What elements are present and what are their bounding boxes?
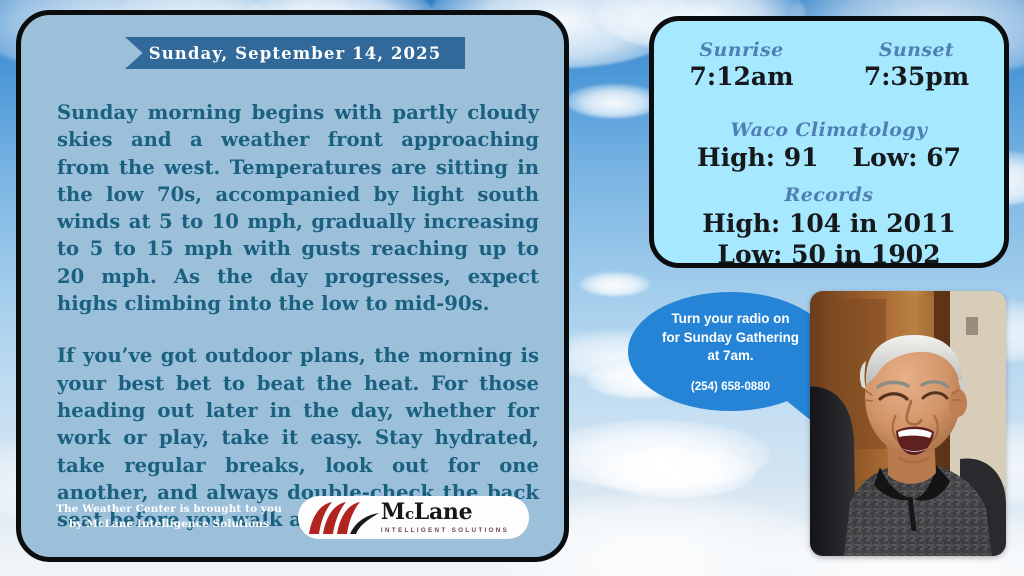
almanac-card: Sunrise 7:12am Sunset 7:35pm Waco Climat… (649, 16, 1009, 268)
sunset-block: Sunset 7:35pm (829, 39, 1004, 91)
forecast-text-block: Sunday morning begins with partly cloudy… (57, 99, 539, 533)
mclane-wordmark: McLane INTELLIGENT SOLUTIONS (381, 501, 523, 534)
host-photo-image (810, 291, 1006, 556)
sponsor-credit: The Weather Center is brought to you by … (56, 502, 282, 532)
records-label: Records (654, 184, 1004, 206)
records-block: Records High: 104 in 2011 Low: 50 in 190… (654, 184, 1004, 270)
forecast-card: Sunday, September 14, 2025 Sunday mornin… (16, 10, 569, 562)
logo-name-c: c (405, 505, 414, 523)
sunset-time: 7:35pm (864, 62, 969, 91)
host-photo (810, 291, 1006, 556)
forecast-paragraph-1: Sunday morning begins with partly cloudy… (57, 99, 539, 317)
radio-promo-bubble: Turn your radio on for Sunday Gathering … (628, 292, 833, 411)
date-ribbon: Sunday, September 14, 2025 (125, 37, 465, 69)
sunrise-label: Sunrise (654, 39, 829, 61)
record-high: High: 104 in 2011 (654, 208, 1004, 239)
mclane-logo: McLane INTELLIGENT SOLUTIONS (298, 496, 529, 539)
climatology-block: Waco Climatology High: 91 Low: 67 (654, 119, 1004, 172)
card-footer: The Weather Center is brought to you by … (21, 493, 564, 541)
logo-tagline: INTELLIGENT SOLUTIONS (381, 527, 523, 534)
sun-times-row: Sunrise 7:12am Sunset 7:35pm (654, 39, 1004, 91)
date-label: Sunday, September 14, 2025 (149, 44, 442, 63)
sunrise-time: 7:12am (689, 62, 793, 91)
logo-name-m: M (381, 499, 405, 525)
climatology-label: Waco Climatology (654, 119, 1004, 141)
record-low: Low: 50 in 1902 (654, 239, 1004, 270)
sunset-label: Sunset (829, 39, 1004, 61)
radio-phone-number[interactable]: (254) 658-0880 (691, 380, 770, 393)
climatology-low: Low: 67 (853, 143, 962, 172)
cloud (566, 84, 662, 118)
climatology-high: High: 91 (697, 143, 819, 172)
sunrise-block: Sunrise 7:12am (654, 39, 829, 91)
mclane-swoosh-icon (307, 501, 381, 535)
cloud (580, 272, 650, 296)
logo-name-lane: Lane (414, 499, 473, 525)
radio-promo-message: Turn your radio on for Sunday Gathering … (662, 310, 799, 366)
